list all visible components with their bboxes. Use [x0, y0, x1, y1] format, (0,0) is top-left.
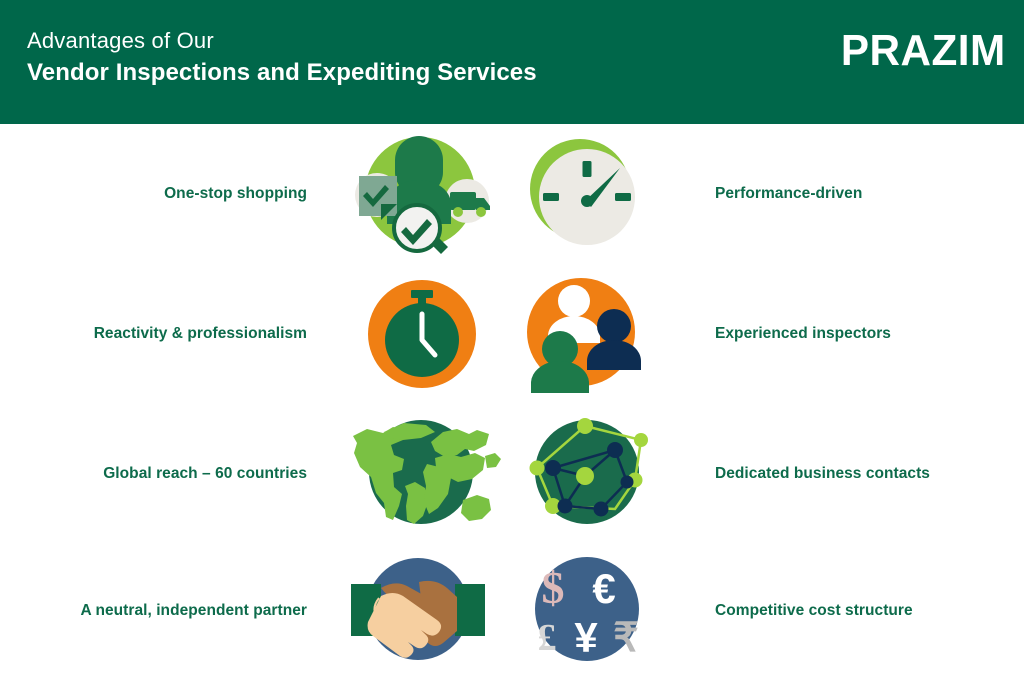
- handshake-icon: [307, 552, 505, 670]
- globe-icon-svg: [343, 412, 503, 537]
- stopwatch-icon-svg: [343, 272, 493, 397]
- header-band: Advantages of Our Vendor Inspections and…: [0, 0, 1024, 124]
- advantage-row: A neutral, independent partner $ €: [0, 541, 1024, 681]
- network-nodes-icon-svg: [519, 414, 659, 534]
- inspectors-people-icon: [505, 275, 703, 393]
- advantage-label-performance-driven: Performance-driven: [715, 185, 1021, 203]
- advantage-row: Reactivity & professionalism: [0, 264, 1024, 404]
- currency-euro-symbol: €: [592, 565, 615, 612]
- advantage-label-global-reach: Global reach – 60 countries: [0, 465, 307, 483]
- infographic-page: Advantages of Our Vendor Inspections and…: [0, 0, 1024, 683]
- currency-symbols-icon-svg: $ € £ ¥ ₹: [519, 551, 659, 671]
- performance-gauge-icon-svg: [519, 135, 649, 253]
- brand-logo: PRAZIM: [841, 26, 1006, 76]
- advantage-label-one-stop-shopping: One-stop shopping: [0, 185, 307, 203]
- handshake-icon-svg: [343, 552, 493, 670]
- advantage-label-reactivity-professionalism: Reactivity & professionalism: [0, 325, 307, 343]
- advantage-label-experienced-inspectors: Experienced inspectors: [715, 325, 1021, 343]
- one-stop-shopping-icon: [307, 132, 505, 257]
- page-title: Vendor Inspections and Expediting Servic…: [27, 58, 537, 88]
- advantages-grid: One-stop shopping: [0, 124, 1024, 683]
- stopwatch-icon: [307, 272, 505, 397]
- advantage-label-dedicated-business-contacts: Dedicated business contacts: [715, 465, 1021, 483]
- advantage-row: One-stop shopping: [0, 124, 1024, 264]
- currency-rupee-symbol: ₹: [613, 616, 638, 660]
- currency-dollar-symbol: $: [542, 562, 565, 613]
- one-stop-shopping-icon-svg: [343, 132, 493, 257]
- performance-gauge-icon: [505, 135, 703, 253]
- inspectors-people-icon-svg: [519, 275, 649, 393]
- advantage-label-competitive-cost-structure: Competitive cost structure: [715, 602, 1021, 620]
- globe-icon: [307, 412, 505, 537]
- network-nodes-icon: [505, 414, 703, 534]
- header-subtitle: Advantages of Our: [27, 27, 537, 55]
- advantage-label-neutral-partner: A neutral, independent partner: [0, 602, 307, 620]
- currency-yen-symbol: ¥: [574, 614, 598, 661]
- header-titles: Advantages of Our Vendor Inspections and…: [27, 27, 537, 88]
- currency-pound-symbol: £: [538, 617, 557, 659]
- currency-symbols-icon: $ € £ ¥ ₹: [505, 551, 703, 671]
- advantage-row: Global reach – 60 countries: [0, 404, 1024, 544]
